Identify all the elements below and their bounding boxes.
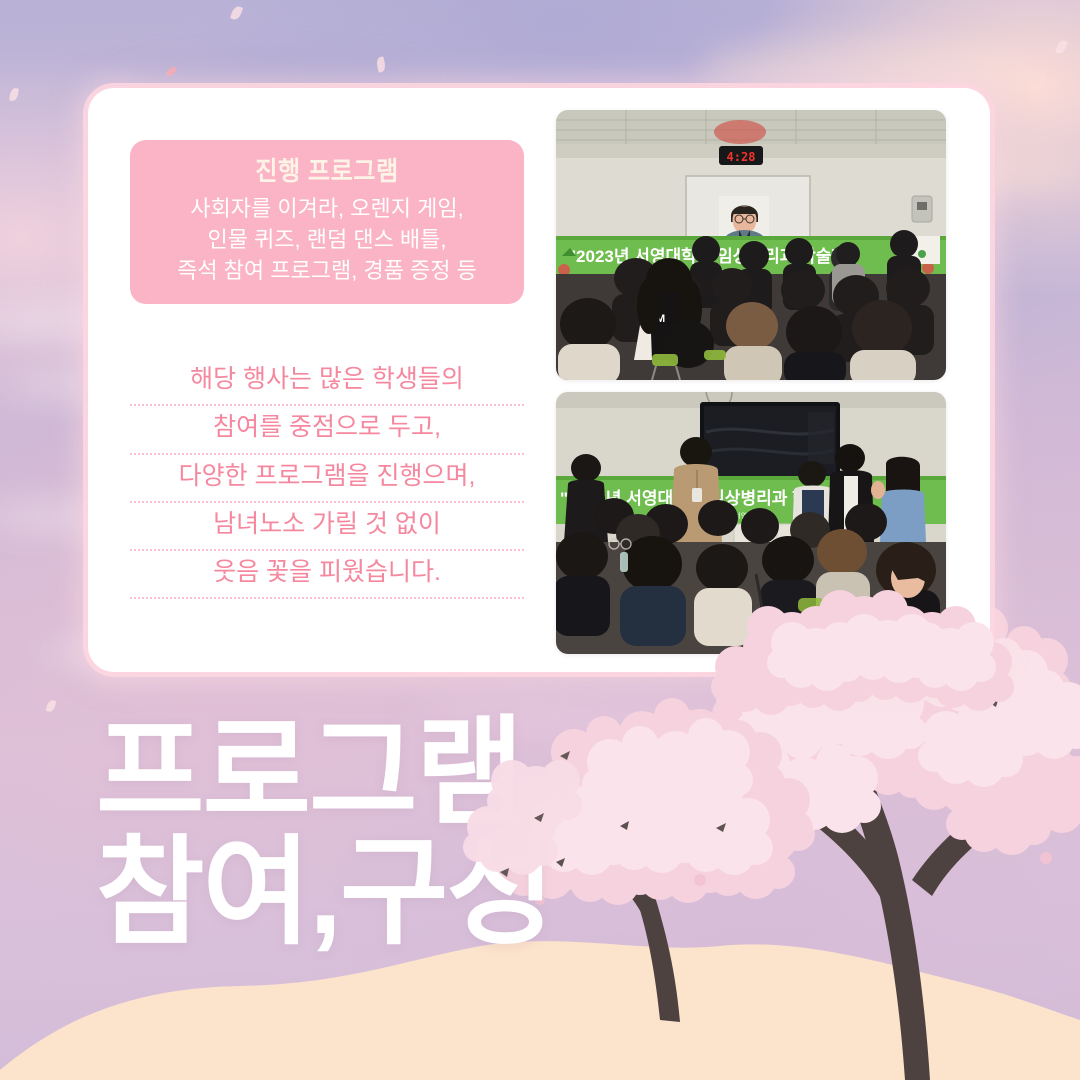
falling-petal [230, 5, 243, 21]
description-text: 해당 행사는 많은 학생들의 [130, 364, 524, 395]
description-row: 다양한 프로그램을 진행으며, [130, 455, 524, 501]
description-text: 다양한 프로그램을 진행으며, [130, 461, 524, 492]
program-box-title: 진행 프로그램 [153, 156, 501, 187]
description-row: 남녀노소 가릴 것 없이 [130, 503, 524, 549]
program-line: 사회자를 이겨라, 오렌지 게임, [140, 193, 514, 224]
falling-petal [9, 88, 19, 102]
description-block: 해당 행사는 많은 학생들의 참여를 중점으로 두고, 다양한 프로그램을 진행… [130, 358, 524, 599]
poster-canvas: 진행 프로그램 사회자를 이겨라, 오렌지 게임, 인물 퀴즈, 랜덤 댄스 배… [0, 0, 1080, 1080]
description-row: 참여를 중점으로 두고, [130, 406, 524, 452]
headline-line-1: 프로그램 [96, 707, 522, 839]
page-title: 프로그램 참여,구성 [96, 716, 856, 951]
description-text: 남녀노소 가릴 것 없이 [130, 509, 524, 540]
description-row: 해당 행사는 많은 학생들의 [130, 358, 524, 404]
description-text: 참여를 중점으로 두고, [130, 412, 524, 443]
svg-text:4:28: 4:28 [727, 150, 756, 164]
program-line: 인물 퀴즈, 랜덤 댄스 배틀, [140, 224, 514, 255]
program-line: 즉석 참여 프로그램, 경품 증정 등 [140, 255, 514, 286]
description-row: 웃음 꽃을 피웠습니다. [130, 551, 524, 597]
content-card: 진행 프로그램 사회자를 이겨라, 오렌지 게임, 인물 퀴즈, 랜덤 댄스 배… [88, 88, 990, 672]
program-list-box: 진행 프로그램 사회자를 이겨라, 오렌지 게임, 인물 퀴즈, 랜덤 댄스 배… [130, 140, 524, 304]
description-text: 웃음 꽃을 피웠습니다. [130, 557, 524, 588]
event-photo-auditorium: 4:28 [556, 110, 946, 380]
headline-line-2: 참여,구성 [96, 836, 856, 952]
event-photo-standing-students: "2023년 서영대학교 임상병리과 학술제" 주최: 서영대학교 [556, 392, 946, 654]
falling-petal [46, 699, 57, 713]
falling-petal [1055, 39, 1068, 55]
dotted-divider [130, 597, 524, 599]
falling-petal [1011, 689, 1024, 703]
